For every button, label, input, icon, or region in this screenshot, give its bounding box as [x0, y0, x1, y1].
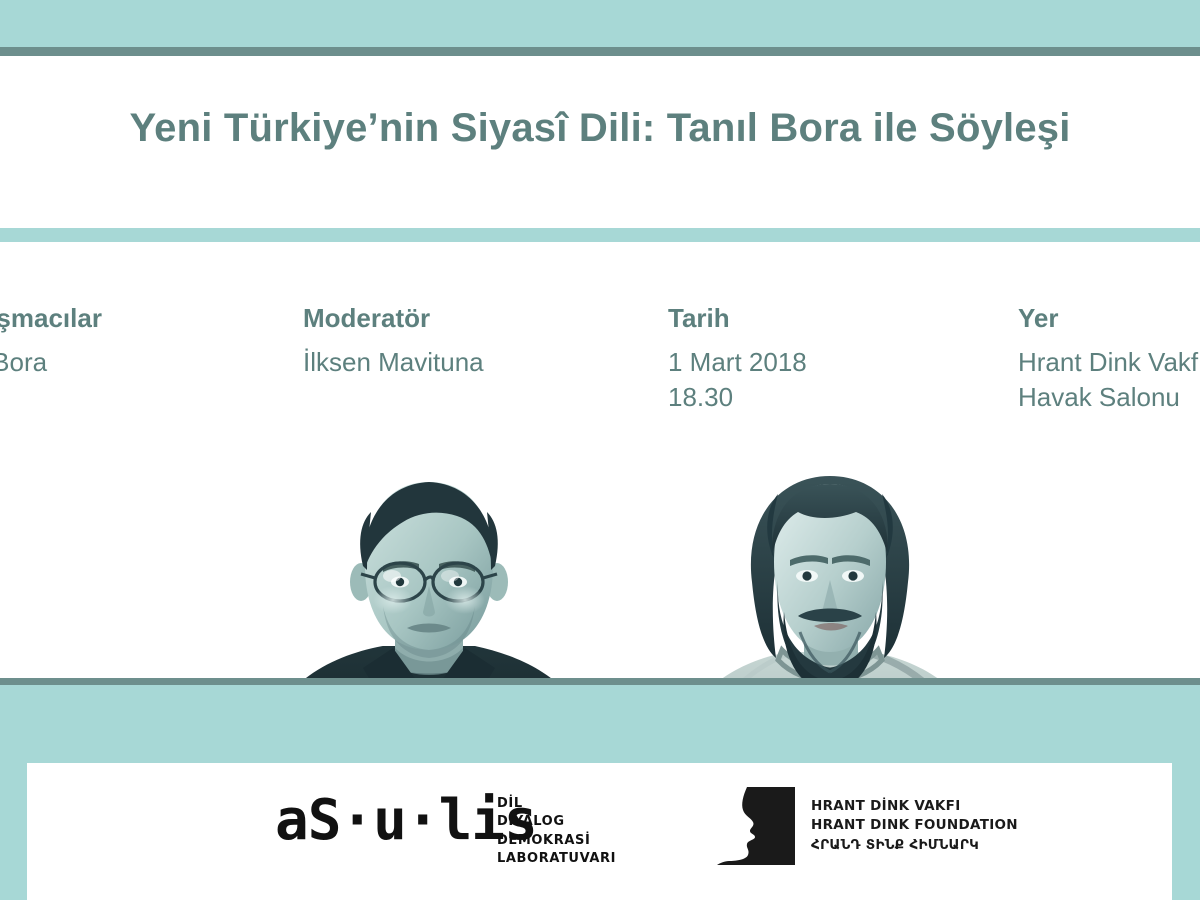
info-value-time: 18.30 [668, 380, 807, 415]
info-column-venue: Yer Hrant Dink Vakfı Havak Salonu [1018, 305, 1200, 415]
top-teal-band [0, 0, 1200, 47]
info-value-venue-org: Hrant Dink Vakfı [1018, 345, 1200, 380]
asulis-tagline: Dİl Dİyalog Demokrasİ Laboratuvari [497, 795, 616, 869]
hrant-dink-foundation-logo: HRANT DİNK VAKFI HRANT DINK FOUNDATION Հ… [717, 787, 1018, 865]
page-title: Yeni Türkiye’nin Siyasî Dili: Tanıl Bora… [0, 106, 1200, 151]
hdv-line-english: HRANT DINK FOUNDATION [811, 816, 1018, 835]
info-label-venue: Yer [1018, 305, 1200, 331]
face-profile-icon [717, 787, 795, 865]
asulis-tagline-line-1: Dİl [497, 795, 616, 813]
bottom-divider-rule [0, 678, 1200, 685]
info-label-date: Tarih [668, 305, 807, 331]
event-poster: Yeni Türkiye’nin Siyasî Dili: Tanıl Bora… [0, 0, 1200, 900]
mid-teal-band [0, 228, 1200, 242]
info-label-speakers: Konuşmacılar [0, 305, 102, 331]
asulis-tagline-line-3: Demokrasİ [497, 832, 616, 850]
info-column-date: Tarih 1 Mart 2018 18.30 [668, 305, 807, 415]
info-label-moderator: Moderatör [303, 305, 484, 331]
footer-logos: aS·u·lis Dİl Dİyalog Demokrasİ Laboratuv… [27, 763, 1172, 900]
event-info-row: Konuşmacılar Tanıl Bora Moderatör İlksen… [0, 305, 1200, 465]
info-value-date: 1 Mart 2018 [668, 345, 807, 380]
asulis-tagline-line-2: Dİyalog [497, 813, 616, 831]
hrant-dink-foundation-text: HRANT DİNK VAKFI HRANT DINK FOUNDATION Հ… [811, 797, 1018, 855]
hdv-line-turkish: HRANT DİNK VAKFI [811, 797, 1018, 816]
hdv-line-armenian: ՀՐԱՆԴ ՏԻՆՔ ՀԻՄՆԱՐԿ [811, 836, 1018, 855]
top-divider-rule [0, 47, 1200, 56]
asulis-tagline-line-4: Laboratuvari [497, 850, 616, 868]
info-value-speaker-name: Tanıl Bora [0, 345, 102, 380]
info-column-moderator: Moderatör İlksen Mavituna [303, 305, 484, 380]
footer-logo-card: aS·u·lis Dİl Dİyalog Demokrasİ Laboratuv… [27, 763, 1172, 900]
info-value-moderator-name: İlksen Mavituna [303, 345, 484, 380]
info-value-venue-hall: Havak Salonu [1018, 380, 1200, 415]
info-column-speakers: Konuşmacılar Tanıl Bora [0, 305, 102, 380]
